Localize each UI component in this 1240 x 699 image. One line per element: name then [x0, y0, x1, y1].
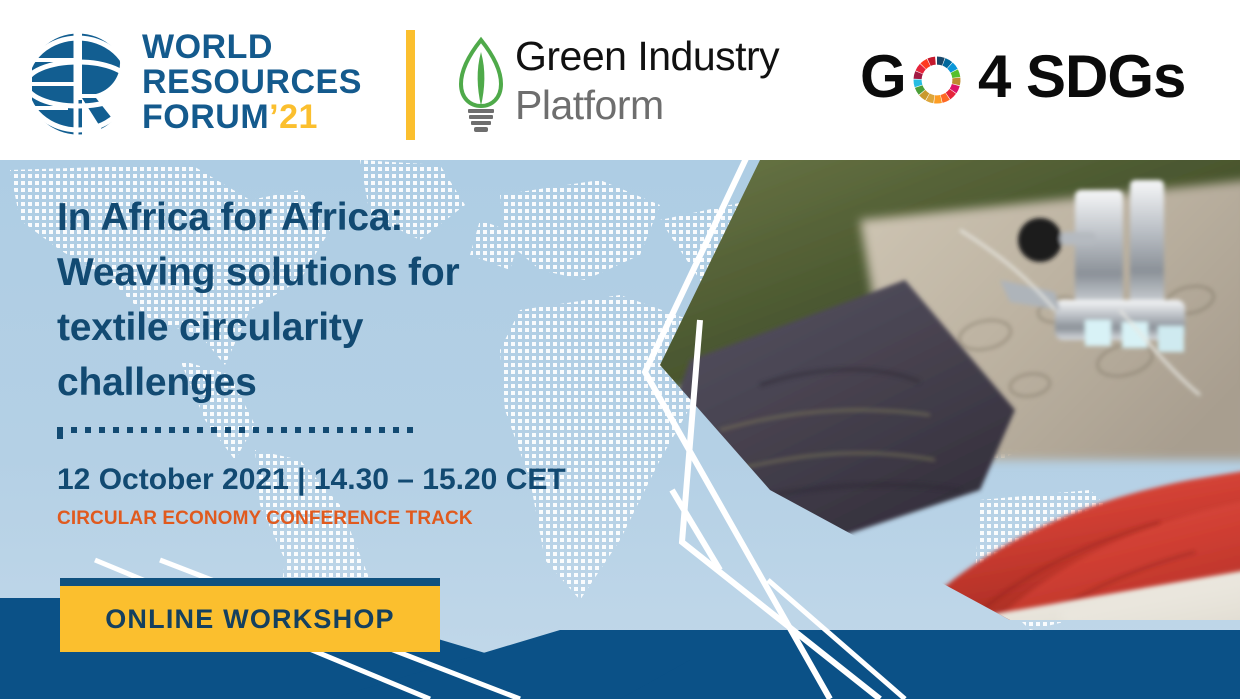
go4sdgs-prefix: G: [860, 41, 906, 113]
dotted-divider: [57, 427, 432, 435]
sdg-color-wheel-icon: [910, 53, 964, 107]
event-banner: WORLD RESOURCES FORUM’21: [0, 0, 1240, 699]
gip-wordmark: Green Industry Platform: [515, 32, 779, 130]
go4sdgs-logo[interactable]: G: [860, 45, 1210, 117]
header-divider: [406, 30, 415, 140]
page-title: In Africa for Africa: Weaving solutions …: [57, 190, 657, 410]
gip-line-1: Green Industry: [515, 32, 779, 81]
title-line-4: challenges: [57, 355, 657, 410]
wrf-line-2: RESOURCES: [142, 65, 362, 100]
green-industry-platform-logo[interactable]: Green Industry Platform: [455, 34, 825, 138]
wrf-wordmark: WORLD RESOURCES FORUM’21: [142, 30, 362, 135]
title-line-2: Weaving solutions for: [57, 245, 657, 300]
wrf-line-3-row: FORUM’21: [142, 100, 362, 135]
event-datetime: 12 October 2021 | 14.30 – 15.20 CET: [57, 463, 566, 497]
leaf-bulb-icon: [455, 36, 507, 136]
online-workshop-badge[interactable]: ONLINE WORKSHOP: [60, 578, 440, 652]
title-line-1: In Africa for Africa:: [57, 190, 657, 245]
title-line-3: textile circularity: [57, 300, 657, 355]
badge-label: ONLINE WORKSHOP: [60, 586, 440, 652]
wrf-year: ’21: [269, 98, 318, 136]
logo-header: WORLD RESOURCES FORUM’21: [0, 0, 1240, 160]
badge-top-bar: [60, 578, 440, 586]
hero-section: In Africa for Africa: Weaving solutions …: [0, 160, 1240, 699]
world-resources-forum-logo[interactable]: WORLD RESOURCES FORUM’21: [24, 26, 364, 138]
conference-track-label: CIRCULAR ECONOMY CONFERENCE TRACK: [57, 508, 473, 530]
gip-line-2: Platform: [515, 81, 779, 130]
wrf-globe-icon: [24, 30, 132, 138]
go4sdgs-suffix: 4 SDGs: [978, 41, 1185, 113]
wrf-line-1: WORLD: [142, 30, 362, 65]
wrf-line-3: FORUM: [142, 98, 269, 136]
